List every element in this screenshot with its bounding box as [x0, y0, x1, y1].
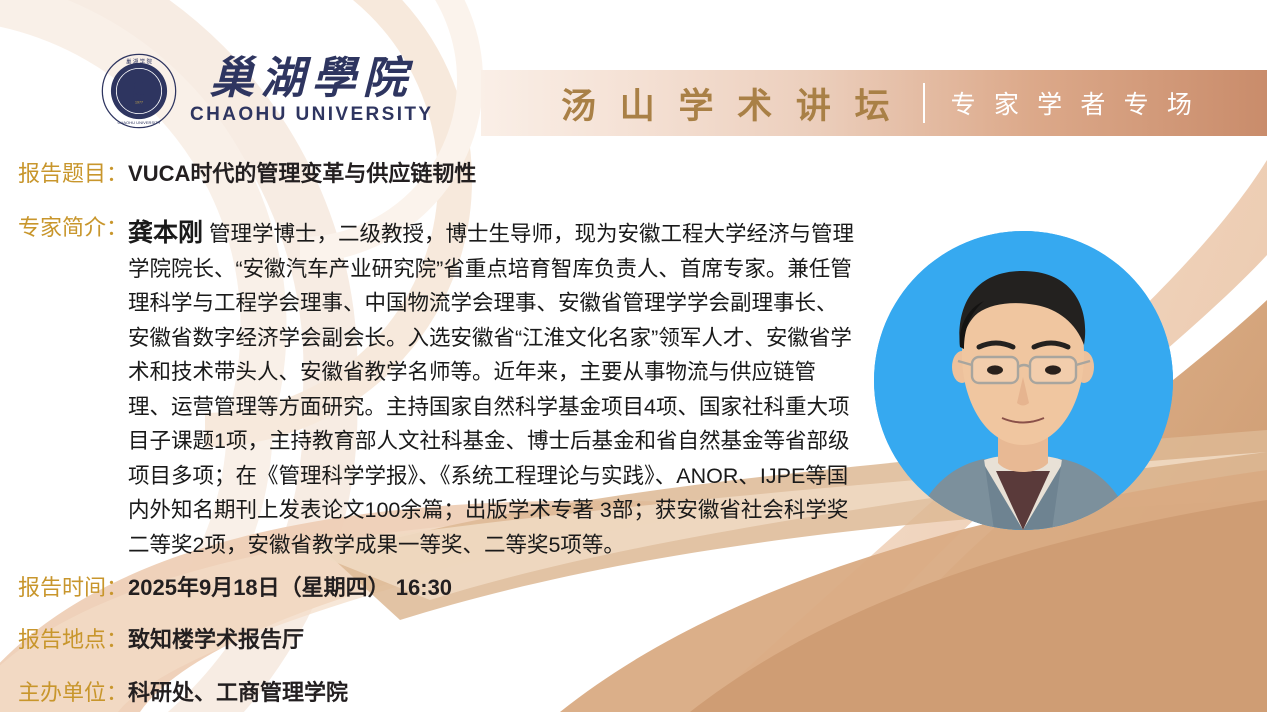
lecture-host-value: 科研处、工商管理学院: [128, 678, 348, 708]
lecture-place-value: 致知楼学术报告厅: [128, 625, 304, 655]
lecture-time-label: 报告时间：: [18, 573, 128, 603]
forum-subtitle: 专 家 学 者 专 场: [951, 85, 1198, 121]
speaker-name: 龚本刚: [128, 219, 203, 247]
svg-text:巢 湖 学 院: 巢 湖 学 院: [126, 58, 152, 66]
lecture-time-value: 2025年9月18日（星期四） 16:30: [128, 573, 452, 603]
lecture-host-row: 主办单位： 科研处、工商管理学院: [18, 678, 348, 708]
banner-divider: [923, 83, 925, 123]
speaker-bio-text: 管理学博士，二级教授，博士生导师，现为安徽工程大学经济与管理学院院长、“安徽汽车…: [128, 222, 854, 557]
lecture-title-label: 报告题目：: [18, 159, 128, 189]
lecture-time-row: 报告时间： 2025年9月18日（星期四） 16:30: [18, 573, 452, 603]
svg-text:1977: 1977: [135, 100, 143, 104]
speaker-bio-row: 专家简介： 龚本刚 管理学博士，二级教授，博士生导师，现为安徽工程大学经济与管理…: [18, 213, 856, 562]
lecture-title-row: 报告题目： VUCA时代的管理变革与供应链韧性: [18, 159, 476, 189]
university-seal-icon: 巢 湖 学 院 CHAOHU UNIVERSITY 1977: [100, 52, 178, 130]
lecture-place-row: 报告地点： 致知楼学术报告厅: [18, 625, 304, 655]
university-name-en: CHAOHU UNIVERSITY: [190, 104, 433, 126]
university-logo: 巢 湖 学 院 CHAOHU UNIVERSITY 1977 巢湖學院 CHAO…: [100, 52, 433, 130]
speaker-bio-block: 龚本刚 管理学博士，二级教授，博士生导师，现为安徽工程大学经济与管理学院院长、“…: [128, 213, 856, 562]
forum-banner: 汤 山 学 术 讲 坛 专 家 学 者 专 场: [481, 70, 1267, 136]
svg-text:CHAOHU UNIVERSITY: CHAOHU UNIVERSITY: [118, 120, 161, 125]
lecture-host-label: 主办单位：: [18, 678, 128, 708]
lecture-title-value: VUCA时代的管理变革与供应链韧性: [128, 159, 476, 189]
speaker-portrait: [874, 231, 1173, 530]
university-name-cn: 巢湖學院: [210, 56, 414, 103]
forum-title: 汤 山 学 术 讲 坛: [561, 78, 897, 129]
speaker-bio-label: 专家简介：: [18, 213, 128, 243]
lecture-place-label: 报告地点：: [18, 625, 128, 655]
seminar-poster: 巢 湖 学 院 CHAOHU UNIVERSITY 1977 巢湖學院 CHAO…: [0, 0, 1267, 712]
